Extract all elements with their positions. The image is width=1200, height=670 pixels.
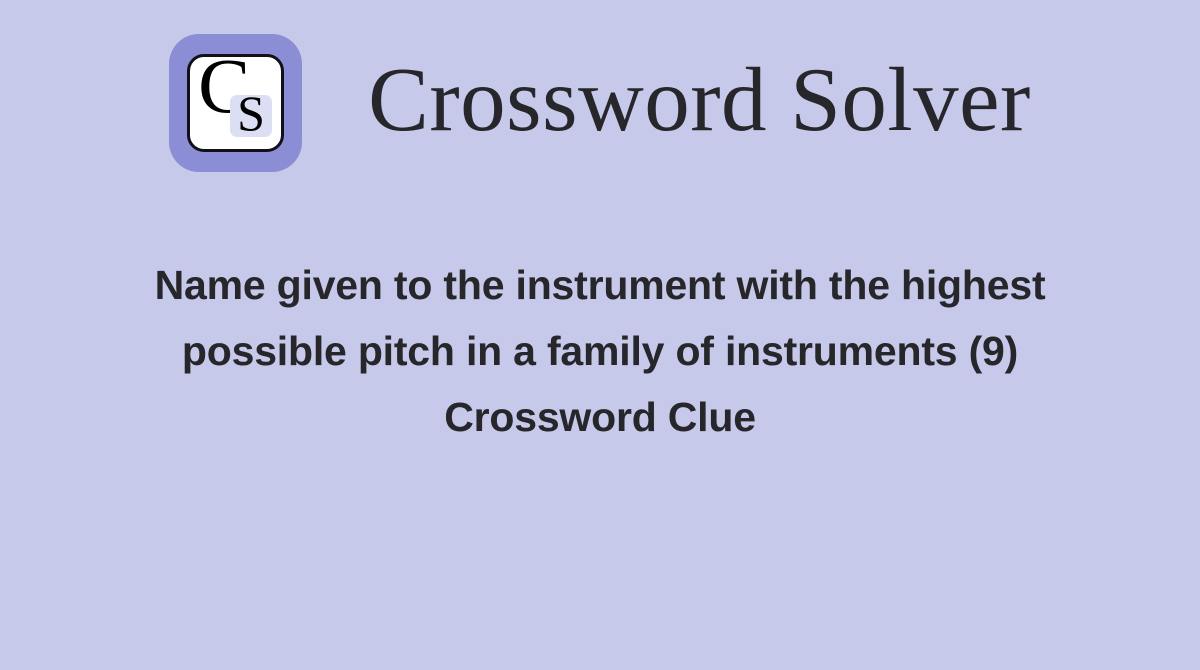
clue-suffix: Crossword Clue	[130, 384, 1070, 450]
crossword-solver-logo-icon[interactable]: C S	[169, 34, 302, 172]
logo-tile: C S	[187, 54, 284, 152]
site-header: C S Crossword Solver	[0, 34, 1200, 172]
logo-letter-s: S	[237, 88, 265, 138]
clue-text: Name given to the instrument with the hi…	[155, 262, 1046, 374]
page-root: C S Crossword Solver Name given to the i…	[0, 0, 1200, 670]
site-title: Crossword Solver	[368, 52, 1031, 154]
page-title: Name given to the instrument with the hi…	[130, 252, 1070, 450]
